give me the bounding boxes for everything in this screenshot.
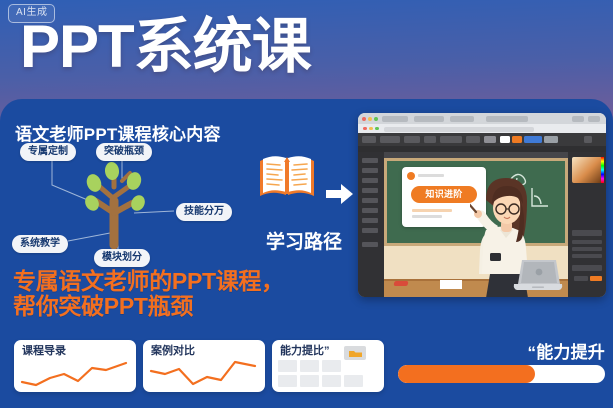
app-logo-icon [407, 172, 415, 180]
sparkline-chart [147, 356, 261, 388]
page-title: PPT系统课 [20, 12, 311, 82]
poster-root: AI生成 PPT系统课 语文老师PPT课程核心内容 [0, 0, 613, 408]
hue-slider [601, 157, 604, 183]
card-title: 能力提比” [280, 345, 330, 358]
tree-label-0: 专属定制 [20, 143, 76, 161]
paper-sheet [440, 280, 462, 289]
tree-diagram: 专属定制 突破瓶颈 技能分万 系统教学 模块划分 [6, 141, 246, 261]
tree-label-1: 突破瓶颈 [96, 143, 152, 161]
mock-toolbar [358, 133, 606, 146]
app-screenshot-mock: 知识进阶 [358, 113, 606, 297]
progress-bar-fill [398, 365, 535, 383]
ability-boost-quote: “能力提升 [528, 338, 606, 363]
progress-bar[interactable] [398, 365, 605, 383]
eraser-icon [393, 281, 408, 286]
learning-path-label: 学习路径 [248, 227, 360, 254]
sparkline-chart [18, 356, 132, 388]
tree-label-4: 模块划分 [94, 249, 150, 267]
mock-left-toolbar [358, 152, 384, 297]
tree-label-2: 技能分万 [176, 203, 232, 221]
mock-canvas: 知识进阶 [384, 158, 568, 297]
card-ability-boost[interactable]: 能力提比” [272, 340, 384, 392]
mock-tab-bar [358, 113, 606, 124]
learning-path-block: 学习路径 [248, 147, 358, 257]
laptop-icon [512, 258, 564, 294]
card-case-comparison[interactable]: 案例对比 [143, 340, 265, 392]
open-book-icon [256, 151, 318, 203]
right-arrow-icon [326, 183, 354, 205]
slogan-text: 专属语文老师的PPT课程， 帮你突破PPT瓶颈 [13, 269, 284, 319]
color-picker-swatch [572, 157, 602, 183]
slide-badge: 知识进阶 [411, 186, 477, 203]
card-course-index[interactable]: 课程导录 [14, 340, 136, 392]
tree-label-3: 系统教学 [12, 235, 68, 253]
folder-icon [348, 349, 363, 358]
content-panel: 语文老师PPT课程核心内容 [0, 99, 613, 408]
mock-url-bar [358, 124, 606, 133]
